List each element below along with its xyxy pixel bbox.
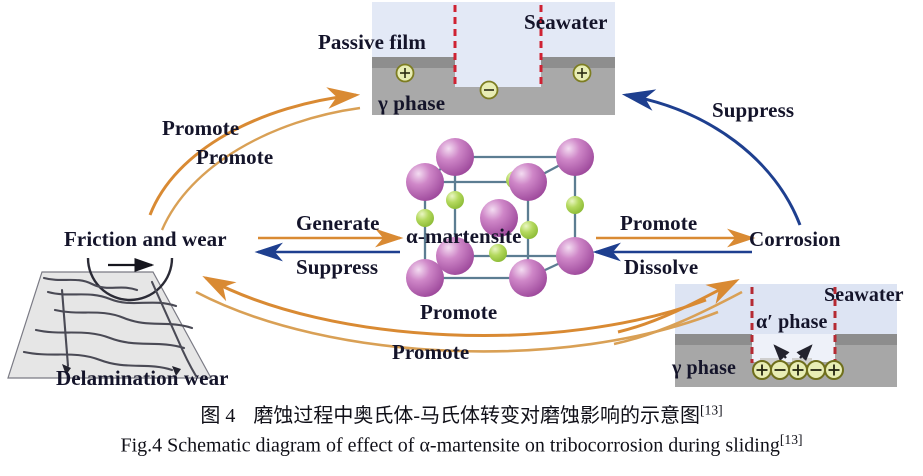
corrosion-label: Corrosion [749,227,841,252]
bottom-seawater-label: Seawater [824,284,904,307]
bottom-panel-charges [753,361,843,379]
figure-graphics [0,0,923,398]
arrow-label-bottom-promote-outer: Promote [392,340,469,365]
caption-en-text: Fig.4 Schematic diagram of effect of α-m… [120,435,779,457]
arrow-label-promote-right: Promote [620,211,697,236]
delamination-wear-graphic [8,258,211,378]
bcc-lattice-graphic [406,138,594,297]
delamination-wear-label: Delamination wear [56,366,229,391]
caption-zh-text: 磨蚀过程中奥氏体-马氏体转变对磨蚀影响的示意图 [253,405,700,427]
arrow-label-dissolve: Dissolve [624,255,698,280]
caption-en-ref: [13] [780,432,803,447]
top-seawater-label: Seawater [524,10,608,35]
alpha-prime-phase-label: α′ phase [756,311,828,334]
arrow-label-bottom-promote-inner: Promote [420,300,497,325]
arrow-promote-dissolve [596,238,752,252]
lattice-large-atoms [406,138,594,297]
arrow-label-right-suppress: Suppress [712,98,794,123]
schematic-figure: Passive film Seawater γ phase Promote Pr… [0,0,923,398]
arrow-generate-suppress [258,238,400,252]
arrow-label-suppress-center: Suppress [296,255,378,280]
caption-zh-prefix: 图 4 [200,405,235,427]
bottom-gamma-phase-label: γ phase [672,357,736,380]
top-gamma-phase-label: γ phase [378,91,445,116]
passive-film-label: Passive film [318,30,426,55]
caption-english: Fig.4 Schematic diagram of effect of α-m… [0,432,923,458]
arrow-label-left-promote-inner: Promote [196,145,273,170]
alpha-martensite-label: α-martensite [406,224,522,249]
arrow-label-left-promote-outer: Promote [162,116,239,141]
caption-zh-ref: [13] [700,402,723,417]
caption-chinese: 图 4磨蚀过程中奥氏体-马氏体转变对磨蚀影响的示意图[13] [0,399,923,428]
arrow-label-generate: Generate [296,211,380,236]
friction-and-wear-label: Friction and wear [64,227,227,252]
